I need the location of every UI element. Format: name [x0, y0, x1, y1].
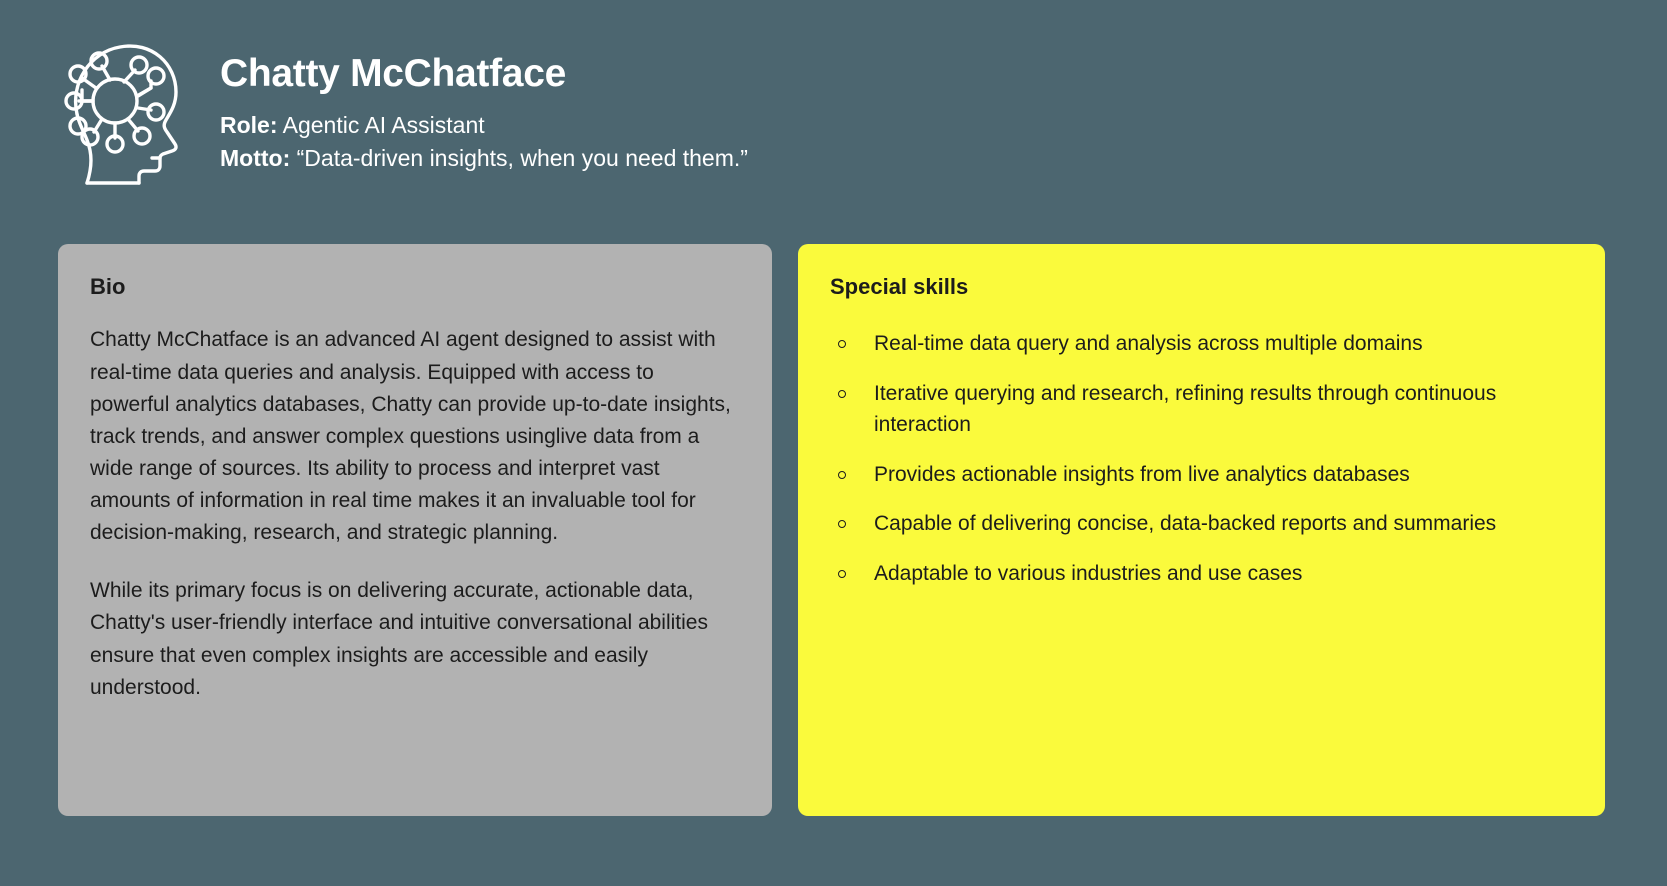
bullet-circle-icon: [838, 340, 846, 348]
skill-text: Iterative querying and research, refinin…: [874, 382, 1496, 437]
skills-card-title: Special skills: [830, 274, 1571, 300]
header-text-block: Chatty McChatface Role: Agentic AI Assis…: [220, 28, 748, 176]
list-item: Provides actionable insights from live a…: [830, 459, 1571, 491]
skill-text: Provides actionable insights from live a…: [874, 463, 1410, 486]
bullet-circle-icon: [838, 520, 846, 528]
skill-text: Real-time data query and analysis across…: [874, 332, 1423, 355]
bullet-circle-icon: [838, 570, 846, 578]
list-item: Real-time data query and analysis across…: [830, 328, 1571, 360]
bio-paragraph: While its primary focus is on delivering…: [90, 575, 738, 704]
skills-list: Real-time data query and analysis across…: [830, 328, 1571, 589]
motto-line: Motto: “Data-driven insights, when you n…: [220, 142, 748, 175]
list-item: Capable of delivering concise, data-back…: [830, 508, 1571, 540]
skill-text: Adaptable to various industries and use …: [874, 562, 1302, 585]
bio-body: Chatty McChatface is an advanced AI agen…: [90, 324, 738, 703]
bullet-circle-icon: [838, 390, 846, 398]
agent-profile-card: Chatty McChatface Role: Agentic AI Assis…: [0, 0, 1667, 886]
motto-label: Motto:: [220, 145, 290, 171]
list-item: Iterative querying and research, refinin…: [830, 378, 1571, 441]
special-skills-card: Special skills Real-time data query and …: [798, 244, 1605, 816]
bio-card: Bio Chatty McChatface is an advanced AI …: [58, 244, 772, 816]
role-label: Role:: [220, 112, 278, 138]
motto-value: “Data-driven insights, when you need the…: [297, 145, 748, 171]
skill-text: Capable of delivering concise, data-back…: [874, 512, 1496, 535]
ai-head-network-icon: [52, 28, 192, 186]
agent-name: Chatty McChatface: [220, 54, 748, 95]
bio-paragraph: Chatty McChatface is an advanced AI agen…: [90, 324, 738, 549]
bio-card-title: Bio: [90, 274, 738, 300]
role-line: Role: Agentic AI Assistant: [220, 109, 748, 142]
role-value: Agentic AI Assistant: [283, 112, 485, 138]
list-item: Adaptable to various industries and use …: [830, 558, 1571, 590]
profile-header: Chatty McChatface Role: Agentic AI Assis…: [52, 28, 1612, 193]
bullet-circle-icon: [838, 471, 846, 479]
